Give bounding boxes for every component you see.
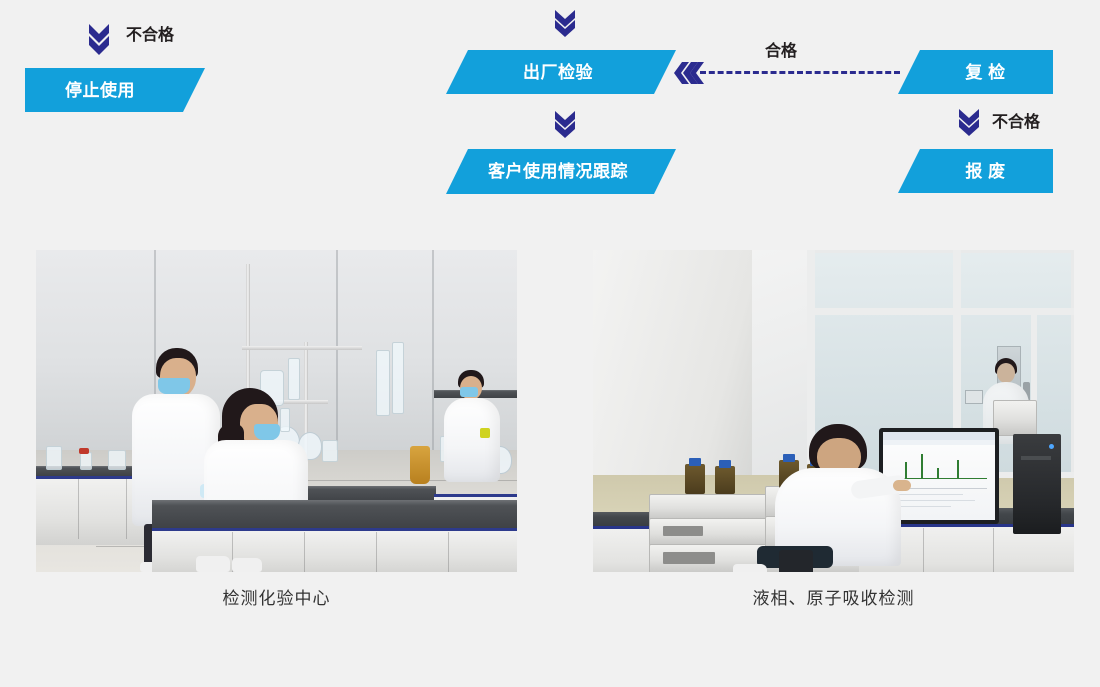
marker-label-fail-right: 不合格 — [992, 115, 1040, 131]
flow-node-customer-tracking[interactable]: 客户使用情况跟踪 — [446, 149, 676, 194]
flow-node-stop-use-label: 停止使用 — [65, 82, 135, 99]
flow-node-re-inspection-label: 复 检 — [965, 64, 1005, 81]
process-flow-diagram: 不合格 停止使用 出厂检验 客户使用情况跟踪 合格 复 检 — [0, 0, 1100, 230]
flow-node-factory-inspection-label: 出厂检验 — [523, 64, 593, 81]
flow-node-scrap[interactable]: 报 废 — [898, 149, 1053, 193]
lab-technicians-photo — [36, 250, 517, 572]
photo-card-testing-lab[interactable]: 检测化验中心 — [36, 250, 517, 609]
hplc-atomic-absorption-photo — [593, 250, 1074, 572]
double-chevron-down-icon — [552, 9, 578, 39]
double-chevron-down-icon — [956, 108, 982, 138]
photo-card-instrument-room[interactable]: 液相、原子吸收检测 — [593, 250, 1074, 609]
flow-node-factory-inspection[interactable]: 出厂检验 — [446, 50, 676, 94]
flow-node-scrap-label: 报 废 — [965, 163, 1005, 180]
photo-gallery: 检测化验中心 — [0, 250, 1100, 650]
flow-node-stop-use[interactable]: 停止使用 — [25, 68, 205, 112]
double-chevron-down-icon — [86, 22, 112, 56]
marker-label-fail-left: 不合格 — [126, 28, 174, 44]
connector-reinspection-to-factory-inspection — [700, 71, 900, 74]
photo-caption-testing-lab: 检测化验中心 — [36, 589, 517, 609]
photo-caption-instrument-room: 液相、原子吸收检测 — [593, 589, 1074, 609]
flow-node-customer-tracking-label: 客户使用情况跟踪 — [488, 163, 628, 180]
marker-label-pass: 合格 — [765, 44, 797, 60]
flow-node-re-inspection[interactable]: 复 检 — [898, 50, 1053, 94]
double-chevron-down-icon — [552, 110, 578, 140]
